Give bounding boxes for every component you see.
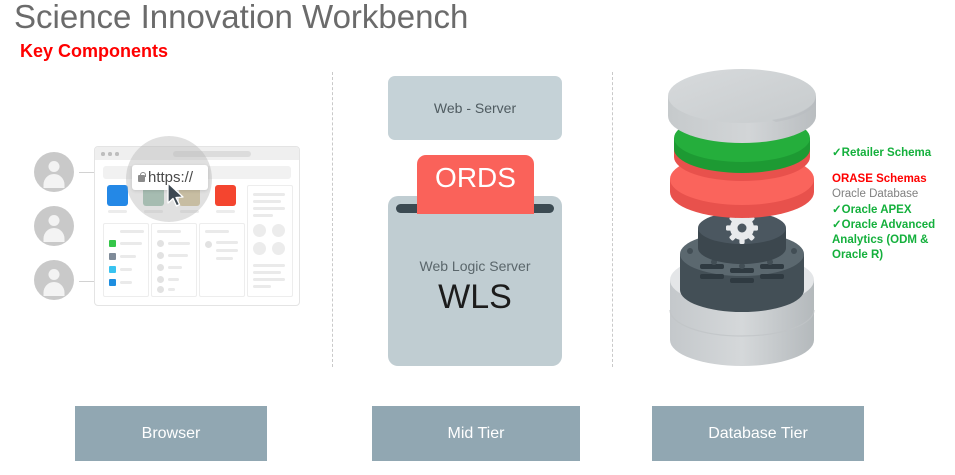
db-top-cap <box>668 69 816 143</box>
bullet-icon <box>157 240 164 247</box>
placeholder-line <box>205 230 229 233</box>
avatar-thumb-icon <box>272 242 285 255</box>
ords-card: ORDS <box>417 155 534 214</box>
placeholder-line <box>120 230 144 233</box>
window-dot-icon <box>101 152 105 156</box>
bullet-icon <box>157 264 164 271</box>
annotation-label: Oracle APEX <box>842 204 912 216</box>
page-subtitle: Key Components <box>20 41 168 62</box>
avatar-thumb-icon <box>253 242 266 255</box>
placeholder-line <box>253 264 285 267</box>
tier-label-browser[interactable]: Browser <box>75 406 267 461</box>
bullet-icon <box>157 286 164 293</box>
web-server-box: Web - Server <box>388 76 562 140</box>
database-illustration <box>652 58 832 378</box>
avatar-thumb-icon <box>253 224 266 237</box>
lock-icon <box>138 175 145 182</box>
placeholder-line <box>253 207 285 210</box>
placeholder-line <box>168 278 179 281</box>
tile-caption-bar <box>216 210 235 213</box>
swatch-icon <box>109 279 116 286</box>
annotation-label: Oracle Advanced Analytics (ODM & Oracle … <box>832 219 935 261</box>
placeholder-line <box>253 193 285 196</box>
tile-blue-icon <box>107 185 128 206</box>
placeholder-line <box>253 278 285 281</box>
web-logic-server-box: Web Logic Server WLS <box>388 196 562 366</box>
avatar-head-icon <box>49 215 60 226</box>
placeholder-line <box>216 241 238 244</box>
avatar-thumb-icon <box>272 224 285 237</box>
column-divider-right <box>612 72 613 367</box>
wls-label: Web Logic Server <box>388 258 562 274</box>
content-panel <box>199 223 245 297</box>
sidebar-panel <box>247 185 293 297</box>
check-icon: ✓ <box>832 219 842 231</box>
window-dot-icon <box>108 152 112 156</box>
tier-label-database-tier[interactable]: Database Tier <box>652 406 864 461</box>
bullet-icon <box>157 276 164 283</box>
content-panel <box>151 223 197 297</box>
avatar-body-icon <box>44 282 65 296</box>
user-avatar <box>34 152 74 192</box>
tile-red-icon <box>215 185 236 206</box>
placeholder-line <box>120 242 142 245</box>
bullet-icon <box>205 241 212 248</box>
column-divider-left <box>332 72 333 367</box>
annotation-orase-schemas: ORASE Schemas <box>832 172 954 187</box>
swatch-icon <box>109 266 116 273</box>
avatar-head-icon <box>49 161 60 172</box>
cursor-icon <box>166 182 186 208</box>
placeholder-line <box>120 255 136 258</box>
placeholder-line <box>253 200 281 203</box>
avatar-head-icon <box>49 269 60 280</box>
annotation-oracle-database: Oracle Database <box>832 187 954 202</box>
annotation-label: Retailer Schema <box>842 147 932 159</box>
placeholder-line <box>168 242 190 245</box>
avatar-body-icon <box>44 174 65 188</box>
annotation-oracle-advanced-analytics: ✓Oracle Advanced Analytics (ODM & Oracle… <box>832 218 954 264</box>
annotation-retailer-schema: ✓Retailer Schema <box>832 146 954 161</box>
database-stack-graphic <box>652 58 832 378</box>
annotation-spacer <box>832 161 954 172</box>
bullet-icon <box>157 252 164 259</box>
page-title: Science Innovation Workbench <box>14 0 468 36</box>
magnifier-lens: https:// <box>126 136 212 222</box>
placeholder-line <box>253 214 273 217</box>
placeholder-line <box>168 266 182 269</box>
placeholder-line <box>120 268 132 271</box>
tile-caption-bar <box>108 210 127 213</box>
annotation-oracle-apex: ✓Oracle APEX <box>832 203 954 218</box>
browser-illustration: https:// <box>28 138 300 328</box>
user-avatar <box>34 206 74 246</box>
wls-abbrev: WLS <box>388 278 562 317</box>
placeholder-line <box>168 254 188 257</box>
check-icon: ✓ <box>832 204 842 216</box>
schema-annotations: ✓Retailer Schema ORASE Schemas Oracle Da… <box>832 146 954 263</box>
placeholder-line <box>216 257 233 260</box>
content-panel <box>103 223 149 297</box>
window-dot-icon <box>115 152 119 156</box>
tier-label-mid-tier[interactable]: Mid Tier <box>372 406 580 461</box>
placeholder-line <box>253 285 271 288</box>
placeholder-line <box>168 288 175 291</box>
placeholder-line <box>216 249 238 252</box>
user-avatar <box>34 260 74 300</box>
placeholder-line <box>120 281 132 284</box>
db-gear-core <box>680 212 804 312</box>
placeholder-line <box>253 271 281 274</box>
swatch-icon <box>109 240 116 247</box>
avatar-body-icon <box>44 228 65 242</box>
placeholder-line <box>157 230 181 233</box>
check-icon: ✓ <box>832 147 842 159</box>
swatch-icon <box>109 253 116 260</box>
